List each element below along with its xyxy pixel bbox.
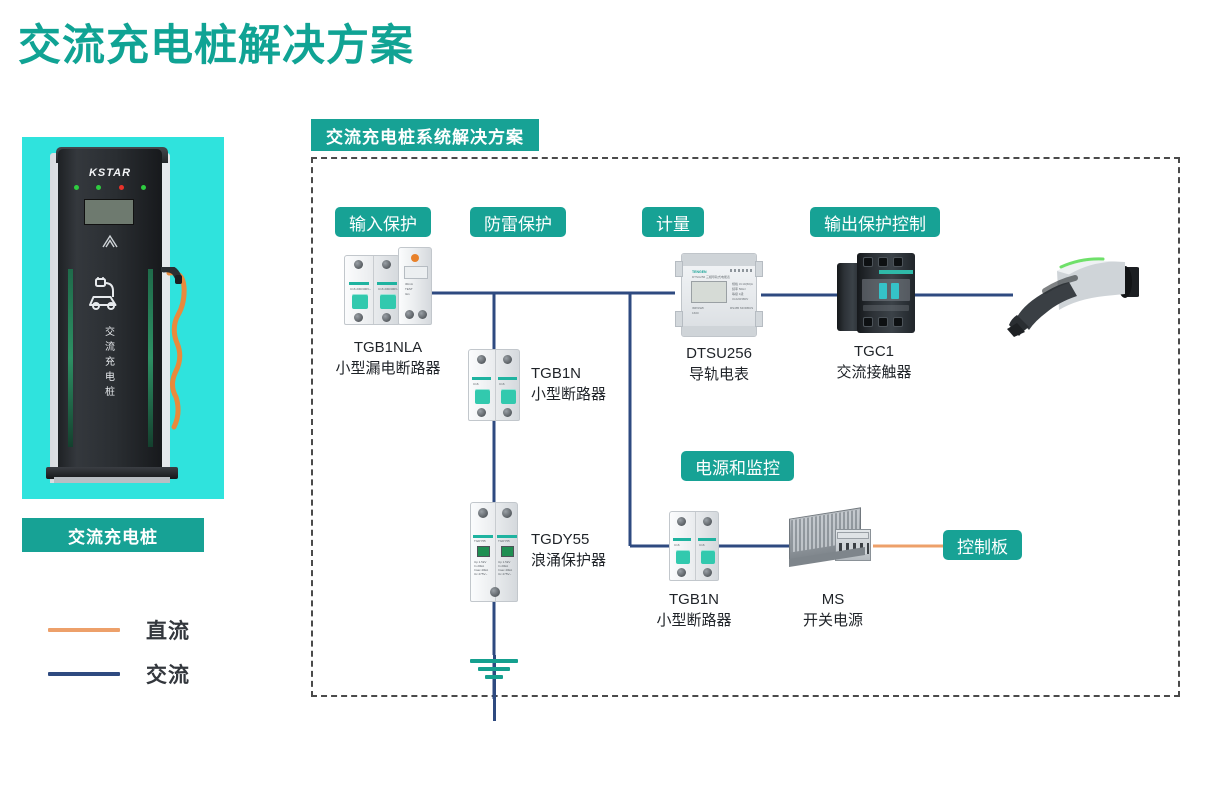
tag-control-board: 控制板 <box>943 530 1022 560</box>
tag-surge-protection: 防雷保护 <box>470 207 566 237</box>
caption-spd-model: TGDY55 <box>531 529 691 550</box>
pile-foot-plate <box>54 477 170 483</box>
caption-mcb-aux: TGB1N 小型断路器 <box>623 589 765 631</box>
charging-connector-gun <box>999 251 1139 341</box>
caption-meter-model: DTSU256 <box>648 343 790 364</box>
tag-input-protection: 输入保护 <box>335 207 431 237</box>
rfid-wave-icon <box>58 233 162 255</box>
legend-item-ac: 交流 <box>48 652 190 696</box>
caption-meter-desc: 导轨电表 <box>648 364 790 385</box>
caption-contactor-desc: 交流接触器 <box>809 362 939 383</box>
caption-mcb-aux-desc: 小型断路器 <box>623 610 765 631</box>
spd-module: TGDY55 TGDY55 Up 1.5kVIn 20kAImax 40kAUc… <box>470 502 518 602</box>
ground-bar-1 <box>470 659 518 663</box>
legend-swatch-dc <box>48 628 120 632</box>
device-mcb-aux-tgb1n: C16 C16 <box>669 511 719 581</box>
legend: 直流 交流 <box>48 608 190 696</box>
tag-output-control: 输出保护控制 <box>810 207 940 237</box>
charging-cable <box>161 267 187 427</box>
mcb-aux-module: C16 C16 <box>669 511 719 581</box>
contactor-main-block <box>857 253 915 333</box>
meter-body: TENGEN DTSU256 三相导轨式电能表 规格 3×10(60)A 频率 … <box>681 253 757 337</box>
caption-spd: TGDY55 浪涌保护器 <box>531 529 691 571</box>
legend-label-dc: 直流 <box>146 615 190 645</box>
ground-bar-3 <box>485 675 503 679</box>
product-caption: 交流充电桩 <box>22 518 204 552</box>
device-rcbo-tgb1nla: C16 230/400V~ C16 230/400V~ 30mA TEST IΔ… <box>344 247 432 329</box>
legend-label-ac: 交流 <box>146 659 190 689</box>
pile-vertical-text: 交流充电桩 <box>58 325 162 400</box>
rcbo-left-module: C16 230/400V~ C16 230/400V~ <box>344 255 400 325</box>
section-banner: 交流充电桩系统解决方案 <box>311 119 539 151</box>
caption-spd-desc: 浪涌保护器 <box>531 550 691 571</box>
page-title: 交流充电桩解决方案 <box>18 22 414 71</box>
ground-wire <box>493 655 496 721</box>
pile-brand-label: KSTAR <box>58 167 162 179</box>
caption-psu-desc: 开关电源 <box>768 610 898 631</box>
device-mcb-tgb1n: C16 C16 <box>468 349 520 421</box>
rcbo-residual-module: 30mA TEST IΔn <box>398 247 432 325</box>
device-meter-dtsu256: TENGEN DTSU256 三相导轨式电能表 规格 3×10(60)A 频率 … <box>675 253 763 337</box>
tag-power-monitor: 电源和监控 <box>681 451 794 481</box>
caption-psu-model: MS <box>768 589 898 610</box>
ground-bar-2 <box>478 667 510 671</box>
caption-rcbo: TGB1NLA 小型漏电断路器 <box>313 337 463 379</box>
ev-charging-icon <box>82 277 138 311</box>
mcb-module: C16 C16 <box>468 349 520 421</box>
pile-lcd-screen <box>84 199 134 225</box>
caption-contactor: TGC1 交流接触器 <box>809 341 939 383</box>
caption-rcbo-model: TGB1NLA <box>313 337 463 358</box>
device-spd-tgdy55: TGDY55 TGDY55 Up 1.5kVIn 20kAImax 40kAUc… <box>470 502 518 602</box>
tag-metering: 计量 <box>642 207 704 237</box>
caption-meter: DTSU256 导轨电表 <box>648 343 790 385</box>
caption-rcbo-desc: 小型漏电断路器 <box>313 358 463 379</box>
legend-item-dc: 直流 <box>48 608 190 652</box>
caption-mcb-aux-model: TGB1N <box>623 589 765 610</box>
product-photo: KSTAR 交流充电桩 <box>22 137 224 499</box>
pile-led-indicators <box>74 185 146 190</box>
legend-swatch-ac <box>48 672 120 676</box>
caption-contactor-model: TGC1 <box>809 341 939 362</box>
caption-mcb-surge-desc: 小型断路器 <box>531 384 681 405</box>
caption-psu: MS 开关电源 <box>768 589 898 631</box>
device-contactor-tgc1 <box>837 253 915 335</box>
system-diagram: 输入保护 防雷保护 计量 输出保护控制 电源和监控 控制板 C16 230/40… <box>311 157 1180 697</box>
device-psu-ms <box>785 507 877 577</box>
